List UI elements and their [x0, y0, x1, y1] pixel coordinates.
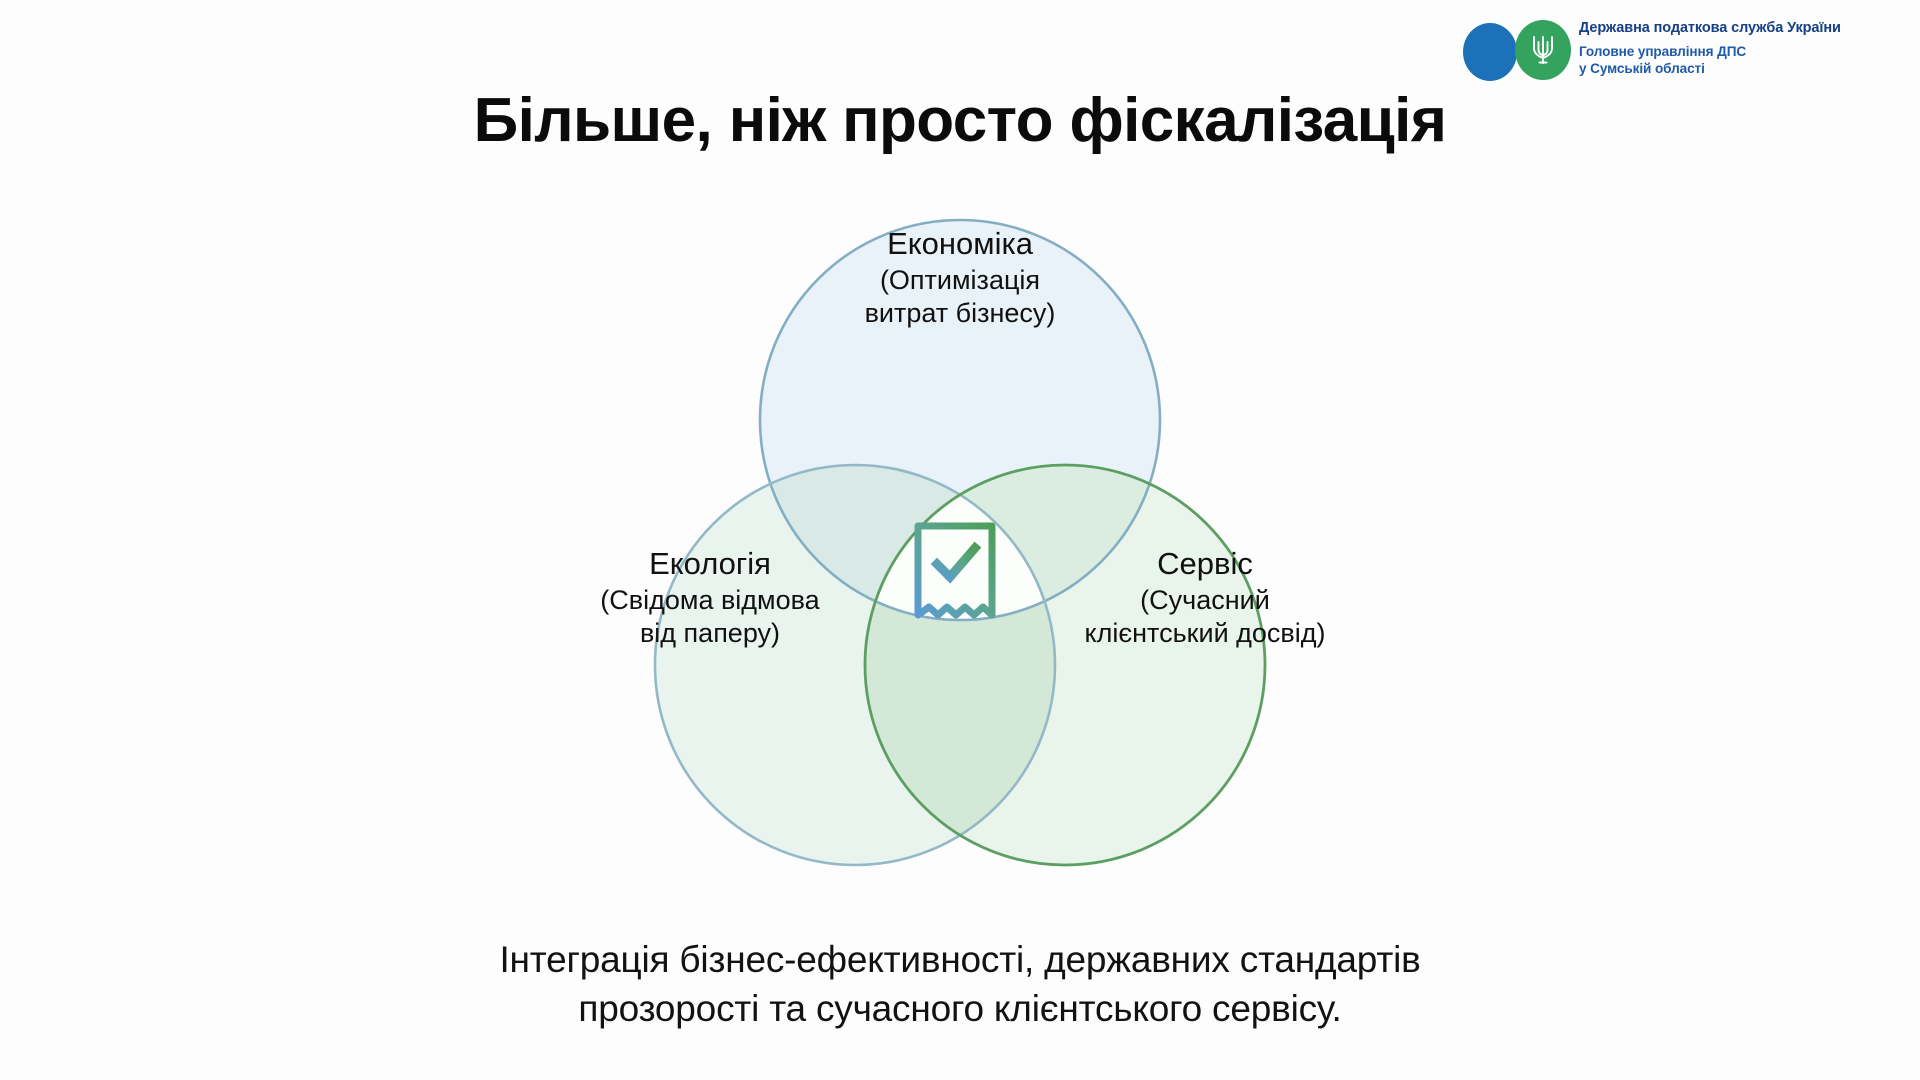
slide-caption: Інтеграція бізнес-ефективності, державни…: [0, 935, 1920, 1033]
logo-line-2: Головне управління ДПС: [1579, 43, 1841, 60]
logo-line-1: Державна податкова служба України: [1579, 19, 1841, 38]
slide-canvas: Державна податкова служба України Головн…: [0, 0, 1920, 1080]
logo-marks: [1463, 18, 1571, 80]
page-title: Більше, ніж просто фіскалізація: [0, 85, 1920, 156]
ukraine-trident-icon: [1530, 33, 1556, 67]
caption-line-1: Інтеграція бізнес-ефективності, державни…: [0, 935, 1920, 984]
logo-text-block: Державна податкова служба України Головн…: [1579, 18, 1841, 77]
logo-green-circle-icon: [1515, 20, 1571, 80]
caption-line-2: прозорості та сучасного клієнтського сер…: [0, 984, 1920, 1033]
logo-line-3: у Сумській області: [1579, 60, 1841, 77]
organization-logo: Державна податкова служба України Головн…: [1463, 18, 1841, 80]
logo-blue-circle-icon: [1463, 23, 1517, 81]
venn-diagram: Економіка (Оптимізація витрат бізнесу) Е…: [595, 205, 1325, 895]
venn-svg: [595, 205, 1325, 895]
